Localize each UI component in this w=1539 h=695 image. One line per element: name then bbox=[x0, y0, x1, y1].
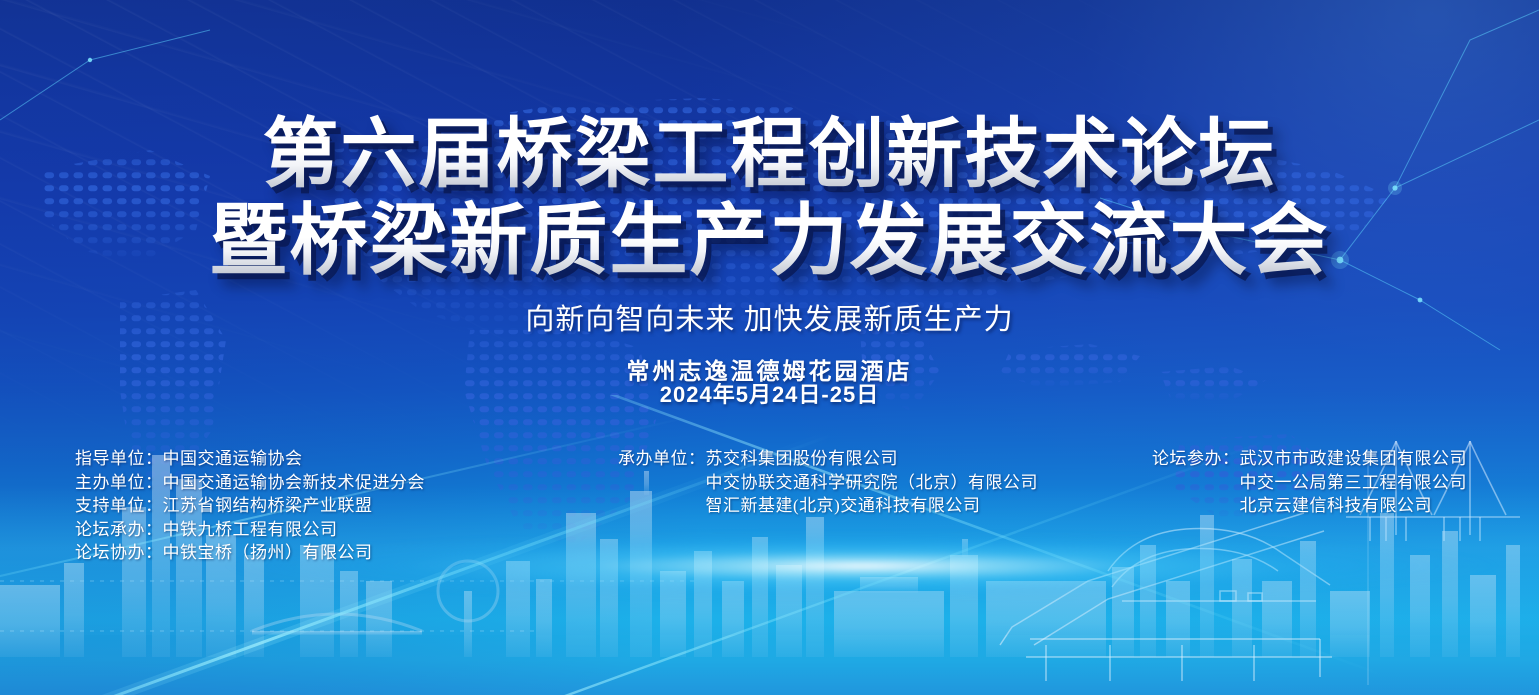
organizer-row: 论坛协办： 中铁宝桥（扬州）有限公司 bbox=[75, 541, 425, 565]
organizer-value: 中国交通运输协会 bbox=[163, 447, 303, 471]
organizer-label: 论坛协办： bbox=[75, 541, 163, 565]
organizer-value: 中交一公局第三工程有限公司 bbox=[1240, 471, 1468, 495]
organizer-value: 中铁宝桥（扬州）有限公司 bbox=[163, 541, 373, 565]
subtitle: 向新向智向未来 加快发展新质生产力 bbox=[0, 296, 1539, 338]
organizer-row: 承办单位： 智汇新基建(北京)交通科技有限公司 bbox=[618, 494, 1038, 518]
organizer-label: 论坛承办： bbox=[75, 518, 163, 542]
organizer-value: 江苏省钢结构桥梁产业联盟 bbox=[163, 494, 373, 518]
organizer-row: 论坛参办： 中交一公局第三工程有限公司 bbox=[1152, 471, 1467, 495]
title-line-1: 第六届桥梁工程创新技术论坛 bbox=[0, 112, 1539, 198]
organizer-row: 承办单位： 苏交科集团股份有限公司 bbox=[618, 447, 1038, 471]
organizer-row: 论坛参办： 武汉市市政建设集团有限公司 bbox=[1152, 447, 1467, 471]
organizer-value: 中铁九桥工程有限公司 bbox=[163, 518, 338, 542]
conference-banner: 第六届桥梁工程创新技术论坛 暨桥梁新质生产力发展交流大会 向新向智向未来 加快发… bbox=[0, 0, 1539, 695]
organizer-value: 北京云建信科技有限公司 bbox=[1240, 494, 1433, 518]
organizer-column-right: 论坛参办： 武汉市市政建设集团有限公司 论坛参办： 中交一公局第三工程有限公司 … bbox=[1152, 447, 1467, 518]
organizer-value: 苏交科集团股份有限公司 bbox=[706, 447, 899, 471]
organizer-value: 中国交通运输协会新技术促进分会 bbox=[163, 471, 426, 495]
organizer-label: 主办单位： bbox=[75, 471, 163, 495]
organizer-row: 主办单位： 中国交通运输协会新技术促进分会 bbox=[75, 471, 425, 495]
dates-text: 2024年5月24日-25日 bbox=[0, 377, 1539, 409]
organizer-value: 武汉市市政建设集团有限公司 bbox=[1240, 447, 1468, 471]
organizer-row: 论坛参办： 北京云建信科技有限公司 bbox=[1152, 494, 1467, 518]
organizer-row: 支持单位： 江苏省钢结构桥梁产业联盟 bbox=[75, 494, 425, 518]
title-line-2: 暨桥梁新质生产力发展交流大会 bbox=[0, 198, 1539, 284]
organizer-value: 智汇新基建(北京)交通科技有限公司 bbox=[706, 494, 981, 518]
organizer-label: 支持单位： bbox=[75, 494, 163, 518]
organizer-column-left: 指导单位： 中国交通运输协会 主办单位： 中国交通运输协会新技术促进分会 支持单… bbox=[75, 447, 425, 565]
title-block: 第六届桥梁工程创新技术论坛 暨桥梁新质生产力发展交流大会 bbox=[0, 112, 1539, 284]
organizer-column-middle: 承办单位： 苏交科集团股份有限公司 承办单位： 中交协联交通科学研究院（北京）有… bbox=[618, 447, 1038, 518]
organizer-label: 承办单位： bbox=[618, 447, 706, 471]
organizer-row: 承办单位： 中交协联交通科学研究院（北京）有限公司 bbox=[618, 471, 1038, 495]
organizer-label: 论坛参办： bbox=[1152, 447, 1240, 471]
organizer-row: 指导单位： 中国交通运输协会 bbox=[75, 447, 425, 471]
organizer-label: 指导单位： bbox=[75, 447, 163, 471]
organizer-row: 论坛承办： 中铁九桥工程有限公司 bbox=[75, 518, 425, 542]
organizer-value: 中交协联交通科学研究院（北京）有限公司 bbox=[706, 471, 1039, 495]
